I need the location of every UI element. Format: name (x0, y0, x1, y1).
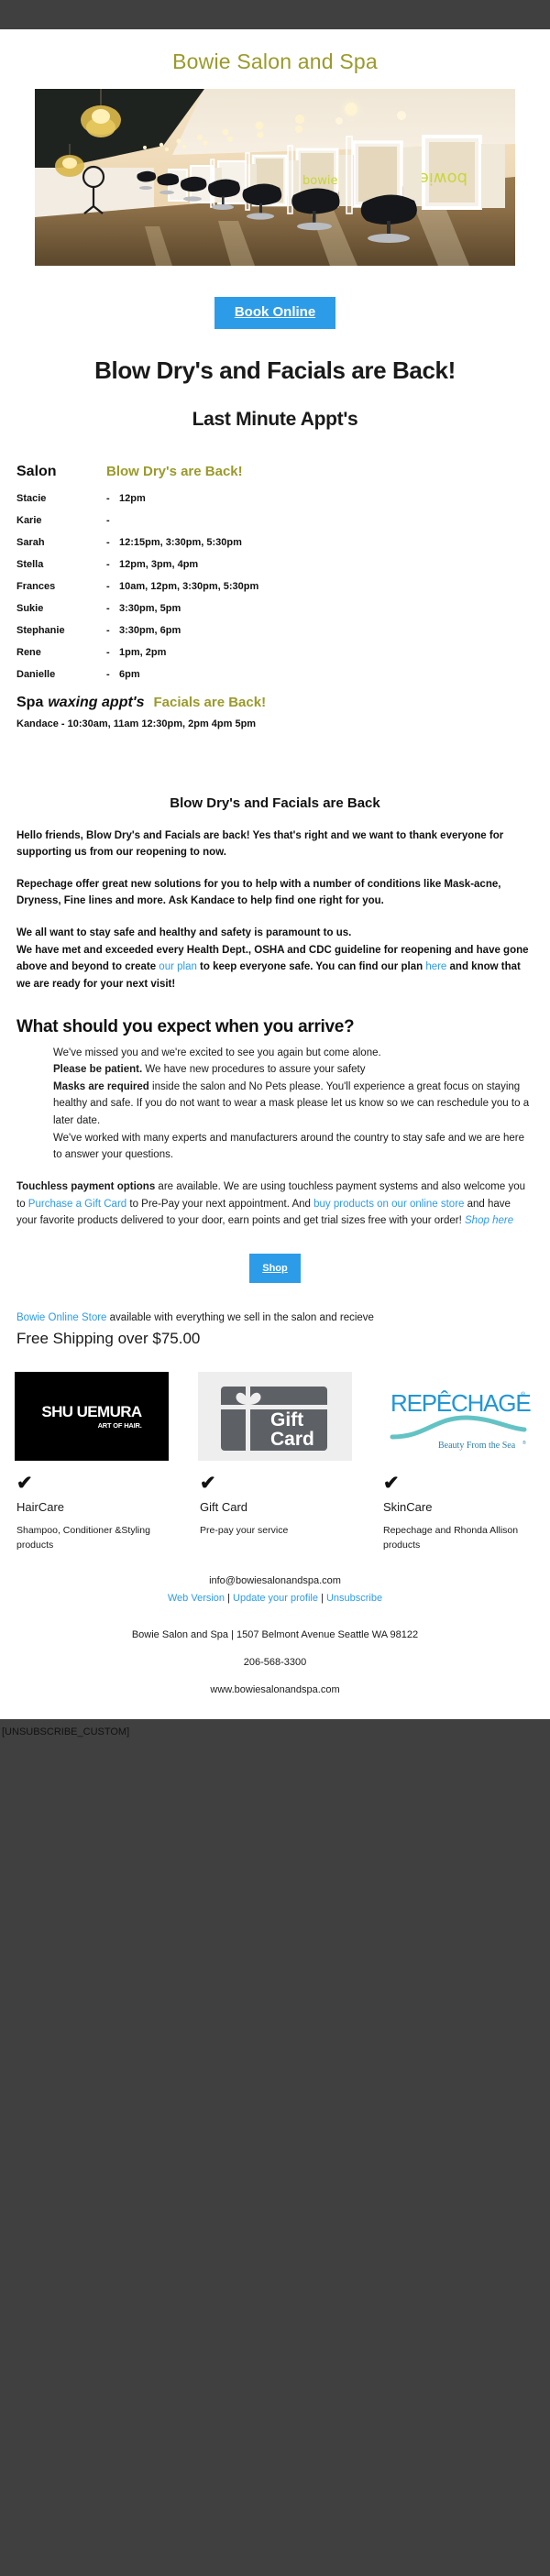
stylist-row: Stephanie-3:30pm, 6pm (16, 625, 550, 636)
repechage-tagline: Beauty From the Sea (438, 1441, 516, 1451)
blow-dry-banner: Blow Dry's are Back! (106, 464, 243, 479)
spa-stylist-row: Kandace - 10:30am, 11am 12:30pm, 2pm 4pm… (16, 718, 550, 729)
expect-heading: What should you expect when you arrive? (0, 1017, 550, 1037)
product-cards: SHU UEMURA ART OF HAIR. ✔ HairCare Shamp… (0, 1348, 550, 1553)
purchase-gift-card-link[interactable]: Purchase a Gift Card (28, 1199, 126, 1210)
shu-uemura-logo-icon: SHU UEMURA ART OF HAIR. (15, 1372, 169, 1461)
please-be-patient-bold: Please be patient. (53, 1064, 142, 1075)
touchless-paragraph: Touchless payment options are available.… (0, 1178, 550, 1230)
stylist-times: 12:15pm, 3:30pm, 5:30pm (119, 537, 550, 548)
card-haircare[interactable]: SHU UEMURA ART OF HAIR. ✔ HairCare Shamp… (15, 1372, 169, 1553)
card-title-skincare: SkinCare (383, 1500, 535, 1514)
facials-banner: Facials are Back! (154, 695, 267, 710)
headline-secondary: Last Minute Appt's (0, 409, 550, 431)
card-desc-skincare: Repechage and Rhonda Allison products (383, 1523, 535, 1553)
card-desc-haircare: Shampoo, Conditioner &Styling products (16, 1523, 169, 1553)
stylist-times: 6pm (119, 669, 550, 680)
article-paragraph-1: Hello friends, Blow Dry's and Facials ar… (16, 828, 533, 861)
stylist-row: Danielle- 6pm (16, 669, 550, 680)
svg-text:®: ® (522, 1440, 526, 1446)
article-section: Blow Dry's and Facials are Back Hello fr… (0, 795, 550, 993)
spa-label: Spa (16, 695, 43, 711)
shop-here-link[interactable]: Shop here (465, 1215, 513, 1226)
gift-card-icon: Gift Card (198, 1372, 352, 1461)
safety-line-3: to keep everyone safe. You can find our … (197, 961, 425, 972)
spa-schedule-header: Spa waxing appt's Facials are Back! (16, 695, 550, 711)
footer-separator-1: | (227, 1593, 230, 1604)
stylist-row: Sarah-12:15pm, 3:30pm, 5:30pm (16, 537, 550, 548)
footer-email: info@bowiesalonandspa.com (16, 1575, 533, 1586)
update-profile-link[interactable]: Update your profile (233, 1593, 318, 1604)
stylist-times: 3:30pm, 6pm (119, 625, 550, 636)
stylist-dash: - (106, 647, 119, 658)
shop-button[interactable]: Shop (249, 1254, 301, 1283)
stylist-times: 1pm, 2pm (119, 647, 550, 658)
salon-label: Salon (16, 464, 106, 480)
stylist-name: Stephanie (16, 625, 106, 636)
stylist-dash: - (106, 537, 119, 548)
stylist-name: Stacie (16, 493, 106, 504)
card-gift-card[interactable]: Gift Card ✔ Gift Card Pre-pay your servi… (198, 1372, 352, 1553)
stylist-dash: - (106, 515, 119, 526)
svg-text:®: ® (521, 1391, 526, 1398)
stylist-dash: - (106, 669, 119, 680)
card-desc-gift-card: Pre-pay your service (200, 1523, 352, 1538)
footer: info@bowiesalonandspa.com Web Version | … (0, 1553, 550, 1719)
salon-schedule-header: Salon Blow Dry's are Back! (16, 464, 550, 480)
free-shipping-text: Free Shipping over $75.00 (0, 1326, 550, 1348)
stylist-row: Frances- 10am, 12pm, 3:30pm, 5:30pm (16, 581, 550, 592)
expect-line-2: We have new procedures to assure your sa… (142, 1064, 365, 1075)
stylist-times: 12pm (119, 493, 550, 504)
shu-uemura-tagline: ART OF HAIR. (41, 1421, 141, 1430)
stylist-row: Stacie-12pm (16, 493, 550, 504)
footer-address: Bowie Salon and Spa | 1507 Belmont Avenu… (16, 1629, 533, 1640)
article-paragraph-3: We all want to stay safe and healthy and… (16, 925, 533, 993)
footer-phone: 206-568-3300 (16, 1657, 533, 1668)
top-bar (0, 0, 550, 29)
article-paragraph-2: Repechage offer great new solutions for … (16, 876, 533, 910)
stylist-name: Stella (16, 559, 106, 570)
shu-uemura-wordmark: SHU UEMURA (41, 1404, 141, 1420)
gift-card-graphic: Gift Card (215, 1377, 335, 1456)
card-title-haircare: HairCare (16, 1500, 169, 1514)
salon-interior-photo: bowie bowie (35, 89, 515, 266)
our-plan-link[interactable]: our plan (159, 961, 197, 972)
spa-waxing-label: waxing appt's (48, 695, 144, 711)
masks-required-bold: Masks are required (53, 1081, 149, 1092)
checkmark-icon: ✔ (200, 1474, 352, 1493)
checkmark-icon: ✔ (16, 1474, 169, 1493)
touchless-bold: Touchless payment options (16, 1181, 155, 1192)
email-body: Bowie Salon and Spa (0, 29, 550, 1719)
repechage-logo-graphic: REPÊCHAGE ® Beauty From the Sea ® (385, 1380, 532, 1453)
online-store-text: available with everything we sell in the… (106, 1312, 374, 1323)
repechage-logo-icon: REPÊCHAGE ® Beauty From the Sea ® (381, 1372, 535, 1461)
online-store-line: Bowie Online Store available with everyt… (0, 1283, 550, 1326)
unsubscribe-link[interactable]: Unsubscribe (326, 1593, 382, 1604)
web-version-link[interactable]: Web Version (168, 1593, 225, 1604)
book-online-button[interactable]: Book Online (214, 297, 335, 329)
touchless-text-2: to Pre-Pay your next appointment. And (126, 1199, 313, 1210)
checkmark-icon: ✔ (383, 1474, 535, 1493)
stylist-name: Rene (16, 647, 106, 658)
safety-line-1: We all want to stay safe and healthy and… (16, 927, 351, 938)
stylist-row: Stella-12pm, 3pm, 4pm (16, 559, 550, 570)
book-online-wrap: Book Online (0, 266, 550, 329)
stylist-name: Sarah (16, 537, 106, 548)
stylist-row: Sukie-3:30pm, 5pm (16, 603, 550, 614)
stylist-times: 12pm, 3pm, 4pm (119, 559, 550, 570)
repechage-wordmark: REPÊCHAGE (390, 1389, 531, 1417)
footer-links: Web Version | Update your profile | Unsu… (16, 1593, 533, 1604)
stylist-dash: - (106, 625, 119, 636)
unsubscribe-token: [UNSUBSCRIBE_CUSTOM] (0, 1719, 550, 1737)
stylist-name: Danielle (16, 669, 106, 680)
hero-image-wrap: bowie bowie (0, 89, 550, 266)
stylist-times: 10am, 12pm, 3:30pm, 5:30pm (119, 581, 550, 592)
footer-separator-2: | (321, 1593, 324, 1604)
here-link[interactable]: here (425, 961, 446, 972)
page-title: Bowie Salon and Spa (0, 29, 550, 89)
shop-button-wrap: Shop (0, 1230, 550, 1283)
stylist-times: 3:30pm, 5pm (119, 603, 550, 614)
gift-word: Gift (270, 1409, 303, 1431)
hero-illustration: bowie bowie (35, 89, 515, 266)
appointment-schedule: Salon Blow Dry's are Back! Stacie-12pmKa… (0, 431, 550, 729)
svg-text:bowie: bowie (419, 169, 467, 188)
stylist-row: Karie- (16, 515, 550, 526)
footer-website: www.bowiesalonandspa.com (16, 1684, 533, 1719)
bottom-bar: [UNSUBSCRIBE_CUSTOM] (0, 1719, 550, 1820)
stylist-name: Frances (16, 581, 106, 592)
headline-primary: Blow Dry's and Facials are Back! (0, 356, 550, 385)
svg-text:bowie: bowie (302, 174, 337, 188)
stylist-dash: - (106, 493, 119, 504)
expect-line-4: We've worked with many experts and manuf… (53, 1133, 524, 1161)
stylist-row: Rene-1pm, 2pm (16, 647, 550, 658)
stylist-dash: - (106, 559, 119, 570)
stylist-rows: Stacie-12pmKarie-Sarah-12:15pm, 3:30pm, … (16, 493, 550, 680)
stylist-name: Sukie (16, 603, 106, 614)
card-skincare[interactable]: REPÊCHAGE ® Beauty From the Sea ® ✔ Skin… (381, 1372, 535, 1553)
stylist-dash: - (106, 603, 119, 614)
expect-paragraph: We've missed you and we're excited to se… (0, 1045, 550, 1164)
card-title-gift-card: Gift Card (200, 1500, 352, 1514)
stylist-name: Karie (16, 515, 106, 526)
article-title: Blow Dry's and Facials are Back (16, 795, 533, 811)
card-word: Card (270, 1429, 314, 1450)
expect-line-1: We've missed you and we're excited to se… (53, 1047, 381, 1058)
bowie-online-store-link[interactable]: Bowie Online Store (16, 1312, 106, 1323)
email-page: Bowie Salon and Spa (0, 0, 550, 1820)
buy-products-link[interactable]: buy products on our online store (313, 1199, 464, 1210)
stylist-dash: - (106, 581, 119, 592)
